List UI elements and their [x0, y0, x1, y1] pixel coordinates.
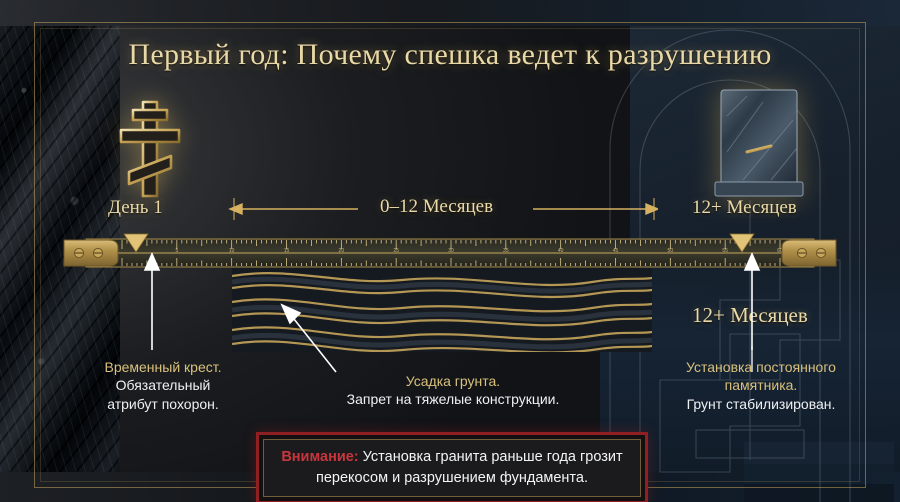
- timeline-label-day-1: День 1: [108, 197, 163, 219]
- caption-middle-white: Запрет на тяжелые конструкции.: [288, 390, 618, 408]
- orthodox-cross-icon: [105, 96, 195, 200]
- infographic-canvas: Первый год: Почему спешка ведет к разруш…: [0, 0, 900, 502]
- warning-box-inner: Внимание: Установка гранита раньше года …: [263, 439, 641, 497]
- granite-monument-icon: [713, 86, 805, 200]
- caption-left: Временный крест. Обязательныйатрибут пох…: [38, 358, 288, 413]
- caption-middle: Усадка грунта. Запрет на тяжелые констру…: [288, 372, 618, 409]
- page-title: Первый год: Почему спешка ведет к разруш…: [0, 38, 900, 72]
- caption-left-white: Обязательныйатрибут похорон.: [38, 376, 288, 413]
- caption-right-gold: Установка постоянногопамятника.: [630, 358, 892, 395]
- caption-right-white: Грунт стабилизирован.: [630, 395, 892, 413]
- timeline-label-12-plus: 12+ Месяцев: [692, 197, 797, 219]
- warning-text: Внимание: Установка гранита раньше года …: [281, 447, 622, 488]
- warning-box: Внимание: Установка гранита раньше года …: [256, 432, 648, 502]
- warning-line-1: Установка гранита раньше года грозит: [359, 449, 623, 465]
- warning-keyword: Внимание:: [281, 449, 358, 465]
- warning-line-2: перекосом и разрушением фундамента.: [316, 470, 588, 486]
- caption-middle-gold: Усадка грунта.: [288, 372, 618, 390]
- caption-left-gold: Временный крест.: [38, 358, 288, 376]
- range-double-arrow-icon: [228, 198, 658, 220]
- caption-right: Установка постоянногопамятника. Грунт ст…: [630, 358, 892, 413]
